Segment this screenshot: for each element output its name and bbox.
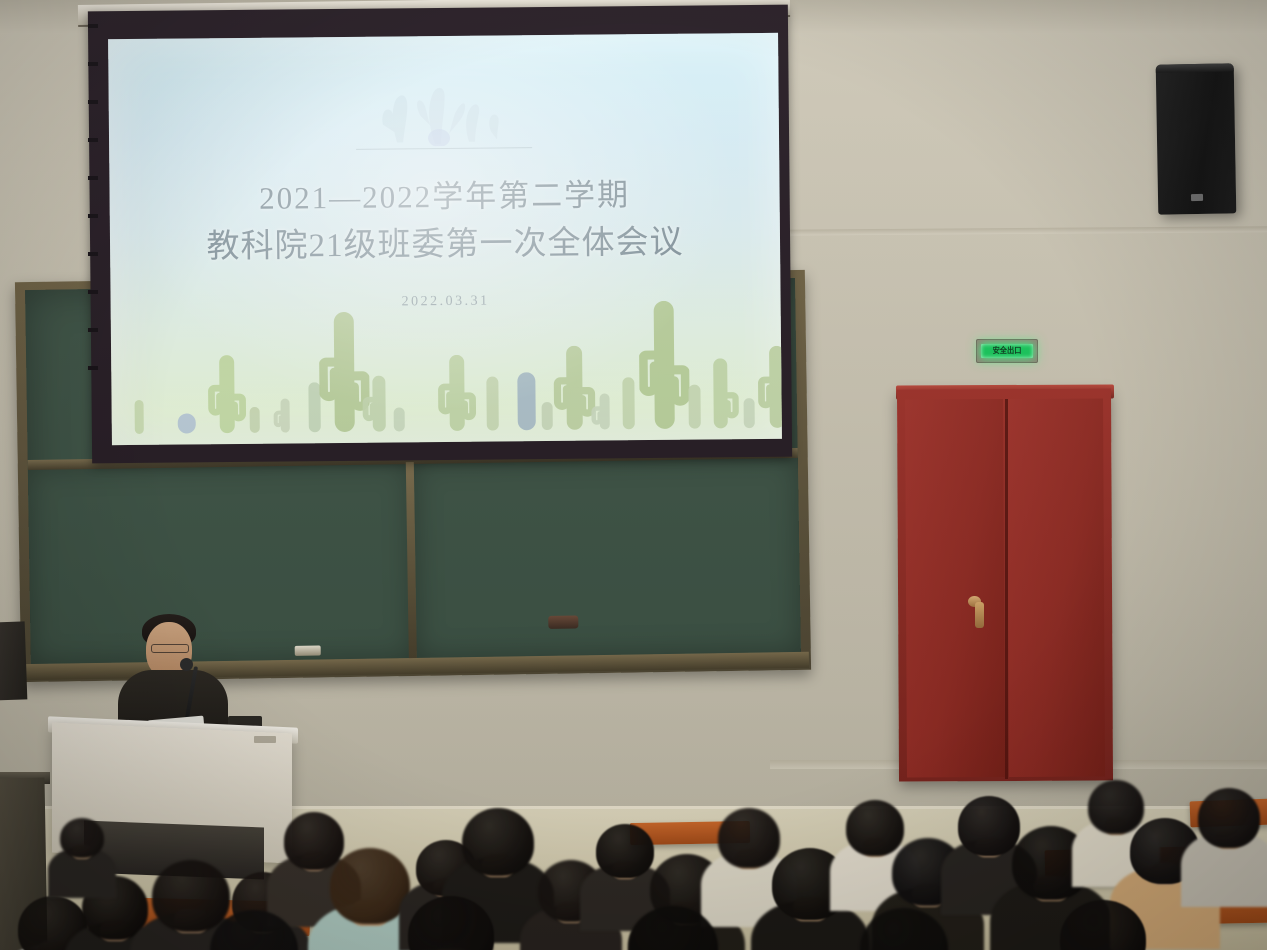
cactus-shape <box>126 400 153 445</box>
door-handle[interactable] <box>975 602 984 628</box>
audience-person <box>860 908 948 950</box>
blackboard-panel <box>414 456 801 658</box>
cactus-shape <box>164 413 210 444</box>
slide-divider-rule <box>356 147 532 150</box>
lecture-hall-photo: 2021—2022学年第二学期 教科院21级班委第一次全体会议 2022.03.… <box>0 0 1267 950</box>
board-eraser-dark <box>548 615 578 628</box>
slide-cactus-footer <box>111 289 782 445</box>
audience-head <box>408 896 494 950</box>
audience-head <box>860 908 948 950</box>
speaker-top-bevel <box>1156 63 1234 72</box>
audience-person <box>1060 900 1146 950</box>
slide-title-line2: 教科院21级班委第一次全体会议 <box>110 218 780 273</box>
cactus-shape <box>384 407 415 442</box>
speaker-brand-logo <box>1191 194 1203 201</box>
wall-speaker-icon <box>1156 63 1237 214</box>
audience <box>0 700 1267 950</box>
audience-head <box>596 824 654 878</box>
cactus-shape <box>272 398 299 443</box>
side-equipment-box <box>0 621 27 700</box>
cactus-shape <box>437 355 477 442</box>
cactus-shape <box>240 407 270 444</box>
presenter-glasses-icon <box>151 644 189 653</box>
audience-head <box>60 818 104 858</box>
audience-head <box>210 910 298 950</box>
audience-person <box>330 848 410 950</box>
audience-person <box>408 896 494 950</box>
slide-title: 2021—2022学年第二学期 教科院21级班委第一次全体会议 <box>109 169 780 273</box>
audience-person <box>628 906 718 950</box>
exit-sign-glow: 安全出口 <box>981 344 1033 358</box>
audience-head <box>462 808 534 876</box>
exit-sign-label: 安全出口 <box>993 347 1022 355</box>
audience-head <box>628 906 718 950</box>
screen-side-tabs <box>88 24 98 454</box>
audience-person <box>210 910 298 950</box>
audience-head <box>718 808 780 868</box>
slide-title-line1: 2021—2022学年第二学期 <box>109 169 779 224</box>
audience-head <box>330 848 410 924</box>
microphone-icon <box>180 658 193 671</box>
cactus-shape <box>757 346 782 439</box>
chalk-eraser <box>295 645 321 655</box>
audience-person <box>60 818 104 948</box>
audience-head <box>1198 788 1260 848</box>
audience-head <box>1060 900 1146 950</box>
exit-sign: 安全出口 <box>976 339 1038 363</box>
cactus-watercolor-icon <box>369 83 520 146</box>
audience-head <box>958 796 1020 856</box>
projected-slide: 2021—2022学年第二学期 教科院21级班委第一次全体会议 2022.03.… <box>108 33 782 445</box>
audience-person <box>1198 788 1260 938</box>
